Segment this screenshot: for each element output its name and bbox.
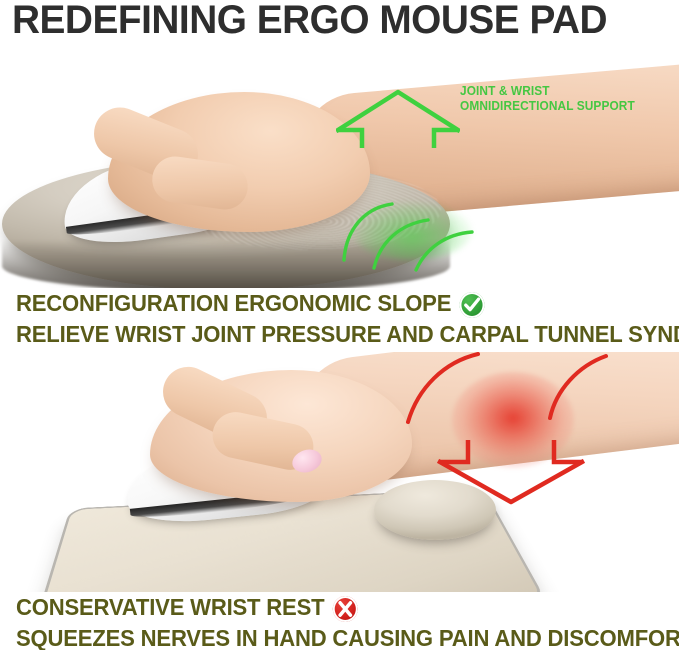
caption-bad-line1: CONSERVATIVE WRIST REST (16, 592, 324, 623)
check-badge-icon (460, 292, 485, 318)
caption-good-line1: RECONFIGURATION ERGONOMIC SLOPE (16, 288, 451, 319)
cross-badge-icon (333, 596, 358, 622)
top-annotation-line2: OMNIDIRECTIONAL SUPPORT (460, 99, 635, 114)
caption-bad: CONSERVATIVE WRIST REST SQUEEZES NERVES … (16, 592, 679, 650)
caption-bad-line2: SQUEEZES NERVES IN HAND CAUSING PAIN AND… (16, 623, 679, 650)
caption-good-line2: RELIEVE WRIST JOINT PRESSURE AND CARPAL … (16, 319, 679, 350)
support-arcs-icon (330, 190, 510, 272)
bottom-product-photo: JOINT & WRIST HANG IN THE AIR (0, 352, 679, 592)
product-feature-infographic: REDEFINING ERGO MOUSE PAD JOINT & WRIS (0, 0, 679, 650)
top-annotation-line1: JOINT & WRIST (460, 84, 635, 99)
top-product-photo: JOINT & WRIST OMNIDIRECTIONAL SUPPORT (0, 40, 679, 288)
top-annotation-label: JOINT & WRIST OMNIDIRECTIONAL SUPPORT (460, 84, 635, 114)
arrow-down-outline-icon (436, 440, 586, 508)
caption-good: RECONFIGURATION ERGONOMIC SLOPE RELIEVE … (16, 288, 679, 350)
arrow-up-outline-icon (336, 86, 460, 148)
pain-arcs-icon (400, 352, 620, 432)
caption-good-line1-row: RECONFIGURATION ERGONOMIC SLOPE (16, 288, 679, 319)
page-title: REDEFINING ERGO MOUSE PAD (12, 0, 652, 42)
caption-bad-line1-row: CONSERVATIVE WRIST REST (16, 592, 679, 623)
